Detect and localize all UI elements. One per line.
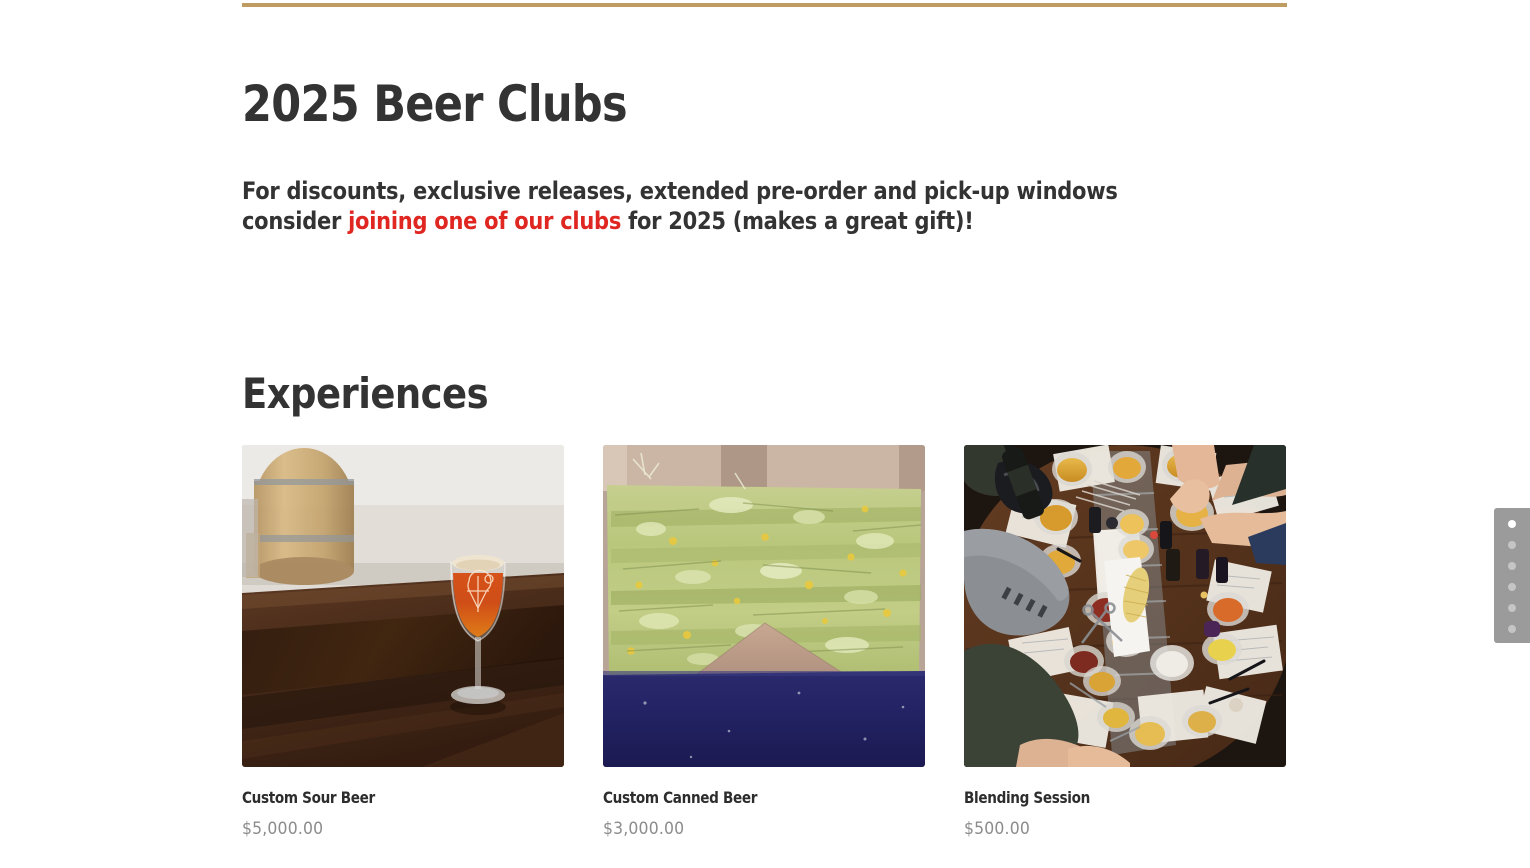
product-title: Custom Sour Beer <box>242 788 516 808</box>
product-title: Custom Canned Beer <box>603 788 877 808</box>
product-price: $5,000.00 <box>242 819 538 840</box>
custom-canned-beer-photo[interactable] <box>603 445 925 767</box>
intro-paragraph: For discounts, exclusive releases, exten… <box>242 176 1222 236</box>
experiences-product-grid: Custom Sour Beer $5,000.00 <box>242 445 1287 840</box>
product-card-custom-sour-beer[interactable]: Custom Sour Beer $5,000.00 <box>242 445 564 840</box>
product-title: Blending Session <box>964 788 1238 808</box>
page-title: 2025 Beer Clubs <box>242 72 627 136</box>
product-price: $3,000.00 <box>603 819 899 840</box>
page-root: 2025 Beer Clubs For discounts, exclusive… <box>0 0 1530 868</box>
dot-nav-item-4[interactable] <box>1508 604 1516 612</box>
product-card-blending-session[interactable]: Blending Session $500.00 <box>964 445 1286 840</box>
dot-nav-item-5[interactable] <box>1508 625 1516 633</box>
product-card-custom-canned-beer[interactable]: Custom Canned Beer $3,000.00 <box>603 445 925 840</box>
product-price: $500.00 <box>964 819 1260 840</box>
dot-nav-item-0[interactable] <box>1508 520 1516 528</box>
top-divider-rule <box>242 3 1287 7</box>
dot-nav-item-3[interactable] <box>1508 583 1516 591</box>
blending-session-photo[interactable] <box>964 445 1286 767</box>
dot-nav-item-2[interactable] <box>1508 562 1516 570</box>
experiences-heading: Experiences <box>242 367 488 421</box>
dot-nav-item-1[interactable] <box>1508 541 1516 549</box>
intro-text-after: for 2025 (makes a great gift)! <box>621 207 973 235</box>
join-clubs-link[interactable]: joining one of our clubs <box>348 207 621 235</box>
section-dot-navigation[interactable] <box>1494 508 1530 643</box>
custom-sour-beer-photo[interactable] <box>242 445 564 767</box>
